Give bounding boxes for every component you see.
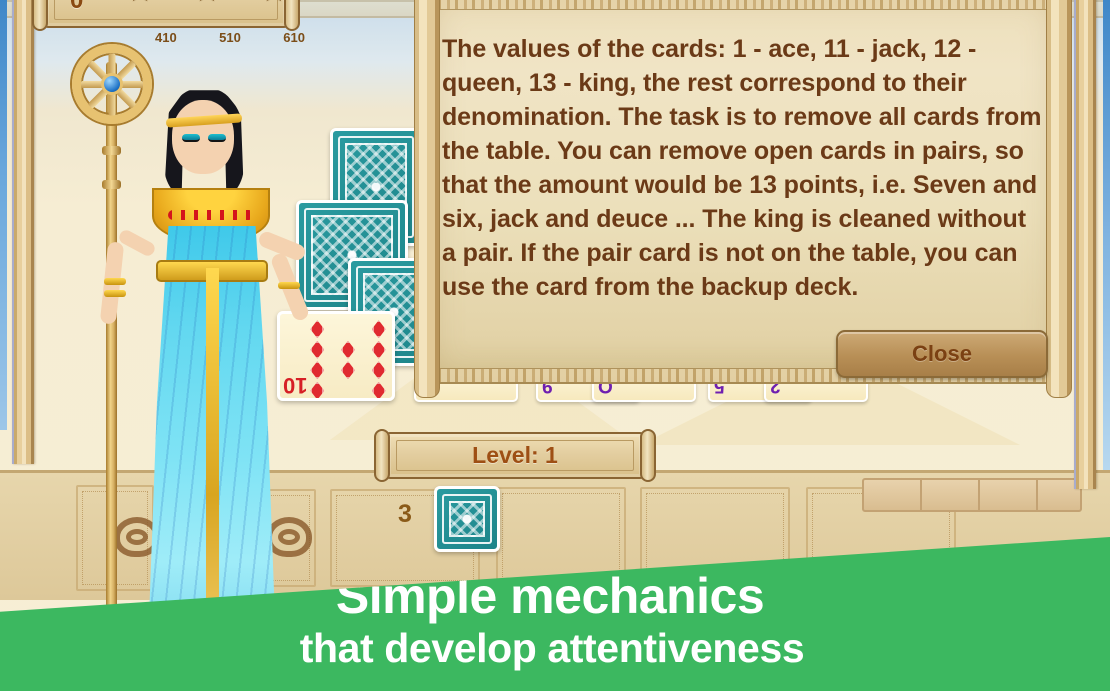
star-icon: ☆ xyxy=(128,0,152,5)
left-edge-strip xyxy=(0,0,7,430)
promo-subheadline: that develop attentiveness xyxy=(0,625,1110,672)
bangle xyxy=(104,290,126,297)
diamond-pip-icon xyxy=(341,341,355,359)
close-button[interactable]: Close xyxy=(836,330,1048,378)
egyptian-queen-character xyxy=(60,30,330,690)
eye-left xyxy=(182,134,200,142)
diamond-pip-icon xyxy=(372,320,386,338)
diamond-pip-icon xyxy=(372,361,386,379)
diamond-pip-icon xyxy=(372,382,386,400)
bangle xyxy=(278,282,300,289)
scroll-cap-left xyxy=(32,0,48,31)
brick-course xyxy=(862,478,1082,512)
deck-remaining-count: 3 xyxy=(388,494,422,534)
wheel-hub-gem xyxy=(101,73,123,95)
score-value: 0 xyxy=(70,0,83,28)
gold-sash xyxy=(206,268,219,646)
level-label: Level: 1 xyxy=(374,432,656,479)
diamond-pip-icon xyxy=(341,361,355,379)
scroll-roll-right xyxy=(1046,0,1072,398)
score-scroll: 0 ☆ ☆ ☆ xyxy=(32,0,300,28)
stock-deck-card[interactable] xyxy=(434,486,500,552)
bangle xyxy=(104,278,126,285)
star-icon: ☆ xyxy=(262,0,286,5)
level-scroll: Level: 1 xyxy=(374,432,656,479)
dialog-body-text: The values of the cards: 1 - ace, 11 - j… xyxy=(442,32,1046,304)
staff-knob xyxy=(102,146,121,155)
scroll-roll-left xyxy=(414,0,440,398)
scroll-cap-right xyxy=(284,0,300,31)
star-rating: ☆ ☆ ☆ xyxy=(128,0,286,6)
diamond-pip-icon xyxy=(372,341,386,359)
rules-dialog: The values of the cards: 1 - ace, 11 - j… xyxy=(414,0,1072,398)
sun-wheel-icon xyxy=(72,44,152,124)
staff-knob xyxy=(102,180,121,189)
pillar-left xyxy=(12,0,34,464)
right-edge-strip xyxy=(1103,0,1110,470)
pillar-right xyxy=(1074,0,1096,489)
star-icon: ☆ xyxy=(195,0,219,5)
eye-right xyxy=(208,134,226,142)
